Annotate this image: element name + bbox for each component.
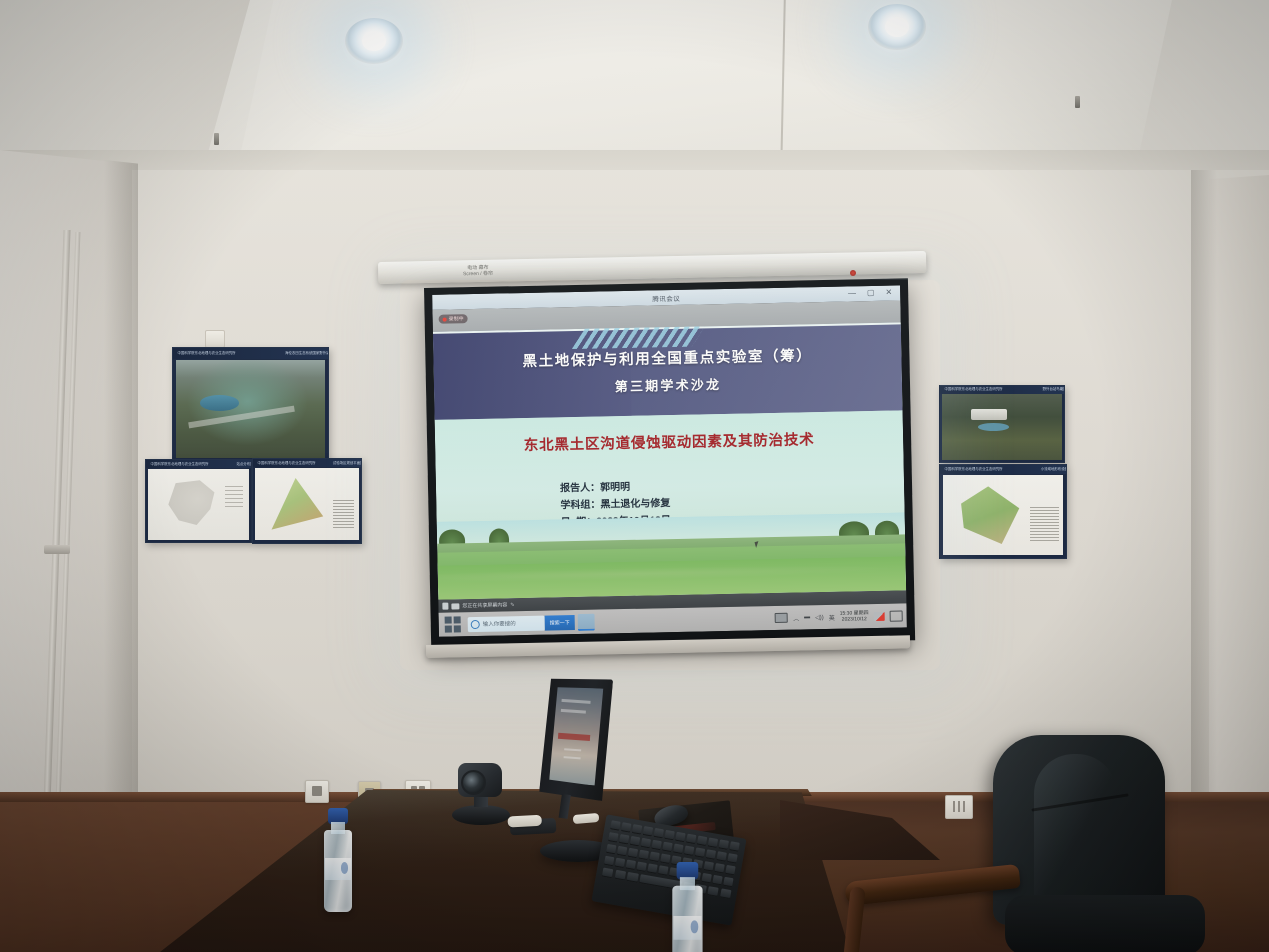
video-conference-camera [452,763,510,825]
slide-header-line1: 黑土地保护与利用全国重点实验室（筹） [433,342,901,372]
minimize-icon[interactable]: — [848,288,856,297]
left-wall-shadow [104,160,138,864]
poster-image [148,469,249,540]
right-corner-shadow [1191,170,1217,850]
poster-china-map: 中国科学院东北地理与农业生态研究所 站点分布图 [145,459,252,543]
poster-caption-bar: 中国科学院东北地理与农业生态研究所 站点分布图 [146,460,252,468]
poster-caption-left: 中国科学院东北地理与农业生态研究所 [945,467,1003,472]
poster-caption-right: 野外台站鸟瞰图 [1042,387,1065,392]
chevron-up-icon[interactable]: ︿ [793,613,799,622]
sprinkler-icon [1075,96,1080,108]
poster-caption-left: 中国科学院东北地理与农业生态研究所 [258,461,316,466]
poster-site-plan: 中国科学院东北地理与农业生态研究所 试验场区规划平面图 [252,458,362,544]
poster-caption-bar: 中国科学院东北地理与农业生态研究所 小流域地形布设图 [940,465,1067,474]
notification-icon[interactable] [890,610,903,621]
power-led-icon [850,270,856,276]
clock-date: 2023/10/12 [840,616,869,623]
light-switch[interactable] [205,330,225,348]
slide-title: 东北黑土区沟道侵蚀驱动因素及其防治技术 [435,426,903,456]
poster-caption-bar: 中国科学院东北地理与农业生态研究所 野外台站鸟瞰图 [940,386,1065,394]
share-status-label: 您正在共享屏幕内容 [462,601,507,609]
network-jack[interactable] [305,780,329,803]
poster-image [943,475,1064,555]
window-title: 腾讯会议 [652,292,680,303]
poster-caption-bar: 中国科学院东北地理与农业生态研究所 试验场区规划平面图 [253,459,362,467]
water-bottle[interactable] [668,862,707,952]
executive-leather-chair[interactable] [845,735,1185,952]
bottle-label [673,916,701,940]
poster-caption-left: 中国科学院东北地理与农业生态研究所 [178,351,236,356]
close-icon[interactable]: ✕ [885,288,892,297]
slide-header-line2: 第三期学术沙龙 [434,370,902,398]
recording-badge: 录制中 [439,314,468,324]
ceiling-light-on [345,18,403,64]
poster-caption-right: 试验场区规划平面图 [332,461,362,466]
water-bottle[interactable] [320,808,356,912]
poster-caption-left: 中国科学院东北地理与农业生态研究所 [151,462,209,467]
poster-image [255,468,359,540]
monitor-screen [549,685,603,786]
poster-image [176,360,325,457]
maximize-icon[interactable]: ▢ [867,288,875,297]
task-view-icon[interactable] [578,613,595,630]
camera-head [458,763,502,797]
ceiling-light-on [868,4,926,50]
windows-start-icon[interactable] [442,613,464,635]
ime-badge-icon[interactable] [775,613,788,623]
phone-handset [507,815,542,828]
camera-lens-icon [461,770,486,795]
chair-seat [1005,895,1205,952]
camera-base [452,805,510,825]
search-go-label: 搜索一下 [550,619,570,626]
poster-caption-bar: 中国科学院东北地理与农业生态研究所 海伦农田生态系统国家野外站 [173,348,329,359]
poster-terrain-plan: 中国科学院东北地理与农业生态研究所 小流域地形布设图 [939,464,1067,559]
record-dot-icon [443,317,447,321]
slide-body: 东北黑土区沟道侵蚀驱动因素及其防治技术 报告人：郭明明 学科组：黑土退化与修复 … [435,410,907,599]
poster-caption-right: 站点分布图 [236,462,252,467]
microphone-icon[interactable] [442,603,448,610]
slide-landscape-photo [437,512,906,599]
poster-valley-station: 中国科学院东北地理与农业生态研究所 野外台站鸟瞰图 [939,385,1065,463]
poster-aerial-view: 中国科学院东北地理与农业生态研究所 海伦农田生态系统国家野外站 [172,347,329,462]
meeting-room-scene: 中国科学院东北地理与农业生态研究所 海伦农田生态系统国家野外站 中国科学院东北地… [0,0,1269,952]
poster-caption-left: 中国科学院东北地理与农业生态研究所 [945,387,1003,392]
taskbar-clock[interactable]: 15:30 星期四 2023/10/12 [840,610,869,624]
conference-phone [509,814,562,839]
poster-image [942,394,1061,459]
presentation-slide: 黑土地保护与利用全国重点实验室（筹） 第三期学术沙龙 东北黑土区沟道侵蚀驱动因素… [433,322,906,599]
search-go-button[interactable]: 搜索一下 [545,615,575,631]
sprinkler-icon [214,133,219,145]
network-icon[interactable]: ▬ [804,614,810,620]
recording-label: 录制中 [449,315,464,322]
projection-screen: 腾讯会议 — ▢ ✕ 录制中 黑土地保护与利用全国重点实验室（筹） [424,278,915,650]
search-input[interactable]: 输入你要搜的 [468,615,545,632]
housing-label: 电动 幕布 Screen / 卷帘 [455,266,501,280]
search-placeholder: 输入你要搜的 [483,619,516,628]
pipe-clamp [44,545,70,554]
projected-desktop: 腾讯会议 — ▢ ✕ 录制中 黑土地保护与利用全国重点实验室（筹） [432,285,907,636]
poster-caption-right: 小流域地形布设图 [1041,467,1067,472]
desktop-monitor [539,675,613,801]
ime-language-icon[interactable]: 英 [829,612,835,621]
pencil-icon[interactable]: ✎ [510,602,514,608]
camera-icon[interactable] [451,603,459,609]
search-icon [471,619,480,628]
system-tray: ︿ ▬ ◁)) 英 15:30 星期四 2023/10/12 [775,609,907,625]
window-controls: — ▢ ✕ [848,288,892,298]
poster-caption-right: 海伦农田生态系统国家野外站 [285,351,329,356]
volume-icon[interactable]: ◁)) [815,614,824,621]
app-icon[interactable] [874,611,885,620]
slide-header-band: 黑土地保护与利用全国重点实验室（筹） 第三期学术沙龙 [433,322,903,419]
bottle-label [325,858,351,880]
right-wall [1209,175,1269,839]
